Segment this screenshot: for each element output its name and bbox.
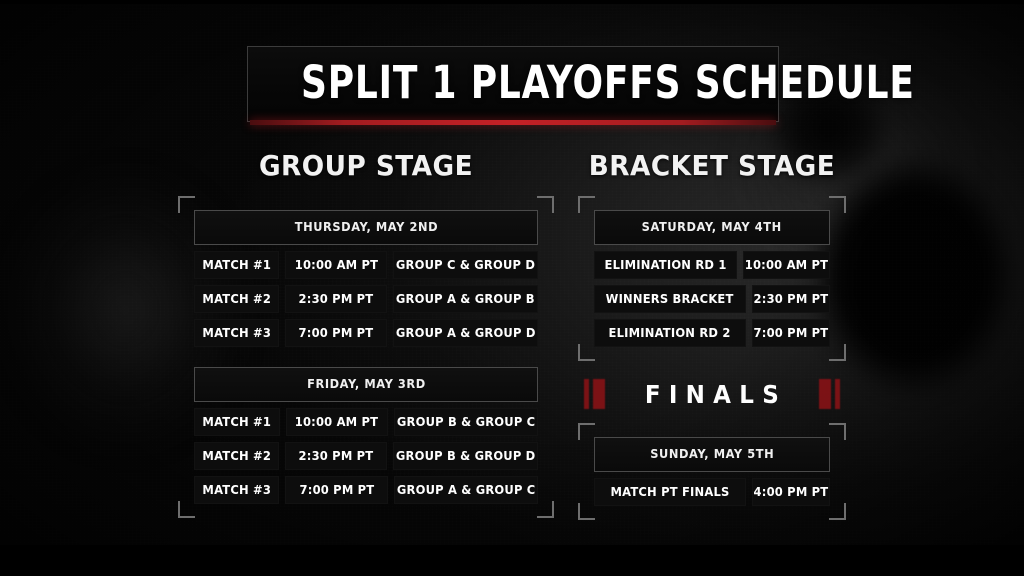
- corner-bracket-bottom-right-icon: [829, 344, 846, 361]
- date-header-friday: FRIDAY, MAY 3RD: [194, 367, 538, 402]
- finals-accent-mark-right-icon: [819, 378, 840, 410]
- match-time-cell: 2:30 PM PT: [285, 442, 387, 470]
- match-groups-cell: GROUP A & GROUP D: [393, 319, 538, 347]
- round-label-cell: ELIMINATION RD 1: [594, 251, 737, 279]
- round-label-cell: ELIMINATION RD 2: [594, 319, 746, 347]
- table-row[interactable]: MATCH #2 2:30 PM PT GROUP A & GROUP B: [194, 285, 538, 313]
- corner-bracket-top-right-icon: [829, 196, 846, 213]
- group-stage-heading: GROUP STAGE: [189, 152, 542, 180]
- table-row[interactable]: MATCH #1 10:00 AM PT GROUP B & GROUP C: [194, 408, 538, 436]
- match-time-cell: 2:30 PM PT: [285, 285, 387, 313]
- title-box: SPLIT 1 PLAYOFFS SCHEDULE: [247, 46, 779, 122]
- match-groups-cell: GROUP B & GROUP D: [393, 442, 538, 470]
- match-groups-cell: GROUP A & GROUP B: [393, 285, 538, 313]
- group-stage-panel: THURSDAY, MAY 2ND MATCH #1 10:00 AM PT G…: [178, 196, 554, 518]
- match-label-cell: MATCH #3: [194, 319, 279, 347]
- finals-banner: FINALS: [578, 371, 846, 417]
- finals-title: FINALS: [637, 380, 788, 409]
- finals-accent-mark-left-icon: [584, 378, 605, 410]
- table-row[interactable]: WINNERS BRACKET 2:30 PM PT: [594, 285, 830, 313]
- round-time-cell: 2:30 PM PT: [752, 285, 830, 313]
- match-groups-cell: GROUP C & GROUP D: [393, 251, 538, 279]
- corner-bracket-top-left-icon: [578, 196, 595, 213]
- date-header-thursday: THURSDAY, MAY 2ND: [194, 210, 538, 245]
- day-separator: [194, 353, 538, 367]
- match-time-cell: 10:00 AM PT: [285, 251, 387, 279]
- corner-bracket-top-left-icon: [578, 423, 595, 440]
- table-row[interactable]: MATCH #2 2:30 PM PT GROUP B & GROUP D: [194, 442, 538, 470]
- round-time-cell: 7:00 PM PT: [752, 319, 830, 347]
- finals-panel: SUNDAY, MAY 5TH MATCH PT FINALS 4:00 PM …: [578, 423, 846, 520]
- corner-bracket-bottom-left-icon: [578, 503, 595, 520]
- table-row[interactable]: MATCH #1 10:00 AM PT GROUP C & GROUP D: [194, 251, 538, 279]
- round-label-cell: WINNERS BRACKET: [594, 285, 746, 313]
- corner-bracket-top-right-icon: [537, 196, 554, 213]
- title-accent-rule: [250, 120, 776, 125]
- match-label-cell: MATCH #3: [194, 476, 279, 504]
- bracket-stage-column: BRACKET STAGE SATURDAY, MAY 4TH ELIMINAT…: [578, 152, 846, 520]
- match-groups-cell: GROUP A & GROUP C: [394, 476, 538, 504]
- table-row[interactable]: ELIMINATION RD 1 10:00 AM PT: [594, 251, 830, 279]
- corner-bracket-bottom-left-icon: [178, 501, 195, 518]
- date-label: FRIDAY, MAY 3RD: [307, 377, 426, 391]
- group-stage-column: GROUP STAGE THURSDAY, MAY 2ND MATCH #1 1…: [178, 152, 554, 518]
- date-header-saturday: SATURDAY, MAY 4TH: [594, 210, 830, 245]
- date-label: THURSDAY, MAY 2ND: [294, 220, 437, 234]
- match-label-cell: MATCH #2: [194, 442, 279, 470]
- match-time-cell: 7:00 PM PT: [285, 476, 387, 504]
- letterbox-bottom: [0, 545, 1024, 576]
- date-header-sunday: SUNDAY, MAY 5TH: [594, 437, 830, 472]
- corner-bracket-top-left-icon: [178, 196, 195, 213]
- table-row[interactable]: ELIMINATION RD 2 7:00 PM PT: [594, 319, 830, 347]
- date-label: SUNDAY, MAY 5TH: [650, 447, 774, 461]
- date-label: SATURDAY, MAY 4TH: [642, 220, 782, 234]
- bracket-stage-heading: BRACKET STAGE: [586, 152, 838, 180]
- page-title: SPLIT 1 PLAYOFFS SCHEDULE: [301, 60, 725, 105]
- title-banner: SPLIT 1 PLAYOFFS SCHEDULE: [247, 46, 779, 122]
- table-row[interactable]: MATCH PT FINALS 4:00 PM PT: [594, 478, 830, 506]
- match-label-cell: MATCH #2: [194, 285, 279, 313]
- finals-round-time-cell: 4:00 PM PT: [752, 478, 830, 506]
- bracket-stage-panel: SATURDAY, MAY 4TH ELIMINATION RD 1 10:00…: [578, 196, 846, 361]
- corner-bracket-bottom-left-icon: [578, 344, 595, 361]
- table-row[interactable]: MATCH #3 7:00 PM PT GROUP A & GROUP C: [194, 476, 538, 504]
- finals-round-label-cell: MATCH PT FINALS: [594, 478, 746, 506]
- match-time-cell: 7:00 PM PT: [285, 319, 387, 347]
- match-label-cell: MATCH #1: [194, 251, 279, 279]
- corner-bracket-bottom-right-icon: [829, 503, 846, 520]
- match-time-cell: 10:00 AM PT: [286, 408, 388, 436]
- match-label-cell: MATCH #1: [194, 408, 280, 436]
- table-row[interactable]: MATCH #3 7:00 PM PT GROUP A & GROUP D: [194, 319, 538, 347]
- match-groups-cell: GROUP B & GROUP C: [394, 408, 538, 436]
- round-time-cell: 10:00 AM PT: [743, 251, 830, 279]
- corner-bracket-top-right-icon: [829, 423, 846, 440]
- schedule-graphic: SPLIT 1 PLAYOFFS SCHEDULE GROUP STAGE TH…: [0, 0, 1024, 576]
- corner-bracket-bottom-right-icon: [537, 501, 554, 518]
- letterbox-top: [0, 0, 1024, 4]
